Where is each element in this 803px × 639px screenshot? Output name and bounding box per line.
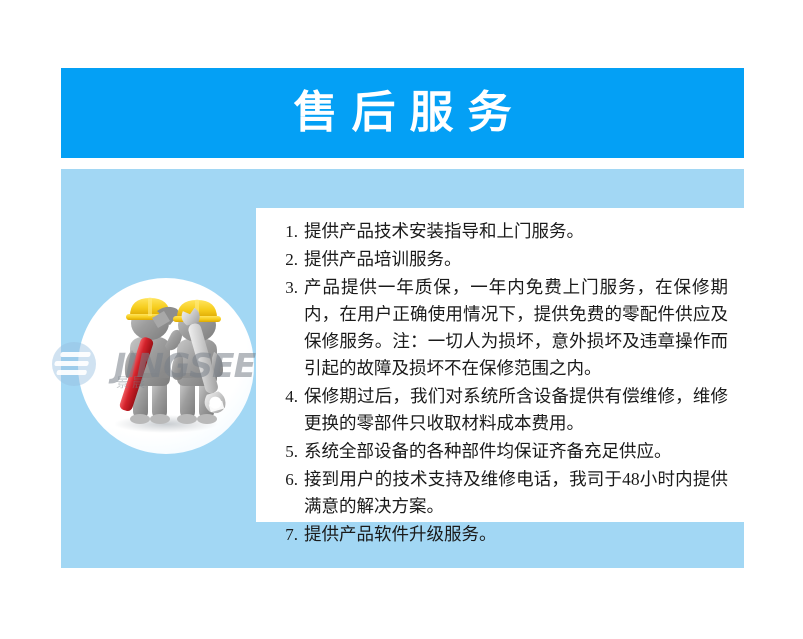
after-sales-service-list: 提供产品技术安装指导和上门服务。 提供产品培训服务。 产品提供一年质保，一年内免… xyxy=(256,208,744,548)
list-item-text: 提供产品培训服务。 xyxy=(304,249,462,269)
list-item: 提供产品软件升级服务。 xyxy=(302,521,728,548)
list-item: 产品提供一年质保，一年内免费上门服务，在保修期内，在用户正确使用情况下，提供免费… xyxy=(302,274,728,382)
list-item-text: 接到用户的技术支持及维修电话，我司于48小时内提供满意的解决方案。 xyxy=(304,469,728,516)
list-item: 提供产品培训服务。 xyxy=(302,246,728,273)
list-item: 保修期过后，我们对系统所含设备提供有偿维修，维修更换的零部件只收取材料成本费用。 xyxy=(302,383,728,437)
service-page: 售后服务 提供产品技术安装指导和上门服务。 提供产品培训服务。 产品提供一年质保… xyxy=(0,0,803,639)
list-item: 系统全部设备的各种部件均保证齐备充足供应。 xyxy=(302,438,728,465)
list-item-text: 提供产品软件升级服务。 xyxy=(304,524,497,544)
page-header-banner: 售后服务 xyxy=(61,68,744,158)
workers-figures-icon xyxy=(78,278,254,454)
two-workers-with-tools-illustration xyxy=(78,278,254,454)
list-item-text: 系统全部设备的各种部件均保证齐备充足供应。 xyxy=(304,441,672,461)
list-item: 接到用户的技术支持及维修电话，我司于48小时内提供满意的解决方案。 xyxy=(302,466,728,520)
list-item-text: 提供产品技术安装指导和上门服务。 xyxy=(304,221,584,241)
service-list-card: 提供产品技术安装指导和上门服务。 提供产品培训服务。 产品提供一年质保，一年内免… xyxy=(256,208,744,522)
page-title: 售后服务 xyxy=(280,91,526,135)
list-item-text: 保修期过后，我们对系统所含设备提供有偿维修，维修更换的零部件只收取材料成本费用。 xyxy=(304,386,728,433)
list-item-text: 产品提供一年质保，一年内免费上门服务，在保修期内，在用户正确使用情况下，提供免费… xyxy=(304,277,728,378)
list-item: 提供产品技术安装指导和上门服务。 xyxy=(302,218,728,245)
